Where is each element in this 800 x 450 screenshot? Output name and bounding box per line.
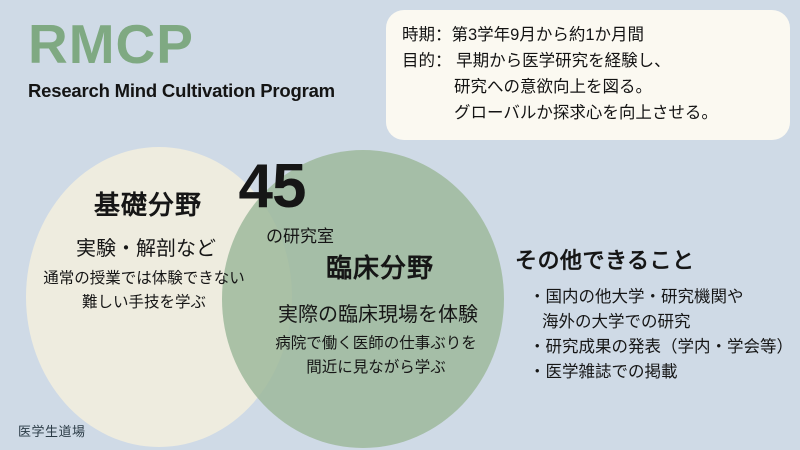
list-item: ・国内の他大学・研究機関や 海外の大学での研究: [515, 285, 795, 335]
clinical-field-description: 実際の臨床現場を体験: [248, 298, 508, 327]
slide-canvas: RMCP Research Mind Cultivation Program 時…: [0, 0, 800, 450]
list-item: ・研究成果の発表（学内・学会等）: [515, 335, 795, 360]
info-line-purpose-cont-1: 研究への意欲向上を図る。: [402, 74, 776, 100]
other-opportunities-block: その他できること ・国内の他大学・研究機関や 海外の大学での研究 ・研究成果の発…: [515, 243, 795, 385]
clinical-field-detail: 病院で働く医師の仕事ぶりを 間近に見ながら学ぶ: [240, 332, 512, 380]
title-block: RMCP Research Mind Cultivation Program: [28, 16, 378, 102]
other-item-sub-1: 海外の大学での研究: [529, 310, 795, 335]
info-line-period: 時期：第3学年9月から約1か月間: [402, 22, 776, 48]
program-full-name: Research Mind Cultivation Program: [28, 80, 378, 102]
list-item: ・医学雑誌での掲載: [515, 360, 795, 385]
info-line-purpose-cont-2: グローバルか探求心を向上させる。: [402, 100, 776, 126]
program-acronym: RMCP: [28, 16, 378, 74]
clinical-field-heading: 臨床分野: [262, 248, 498, 285]
info-line-purpose: 目的： 早期から医学研究を経験し、: [402, 48, 776, 74]
basic-field-description: 実験・解剖など: [28, 232, 264, 261]
basic-field-detail: 通常の授業では体験できない 難しい手技を学ぶ: [12, 267, 276, 315]
program-info-card: 時期：第3学年9月から約1か月間 目的： 早期から医学研究を経験し、 研究への意…: [386, 10, 790, 140]
other-item-main-3: ・医学雑誌での掲載: [529, 363, 678, 381]
other-opportunities-heading: その他できること: [515, 243, 795, 275]
footer-watermark: 医学生道場: [18, 421, 86, 440]
other-item-main-1: ・国内の他大学・研究機関や: [529, 288, 744, 306]
lab-count-number: 45: [212, 158, 332, 216]
other-item-main-2: ・研究成果の発表（学内・学会等）: [529, 338, 793, 356]
lab-count-label: の研究室: [240, 222, 360, 247]
